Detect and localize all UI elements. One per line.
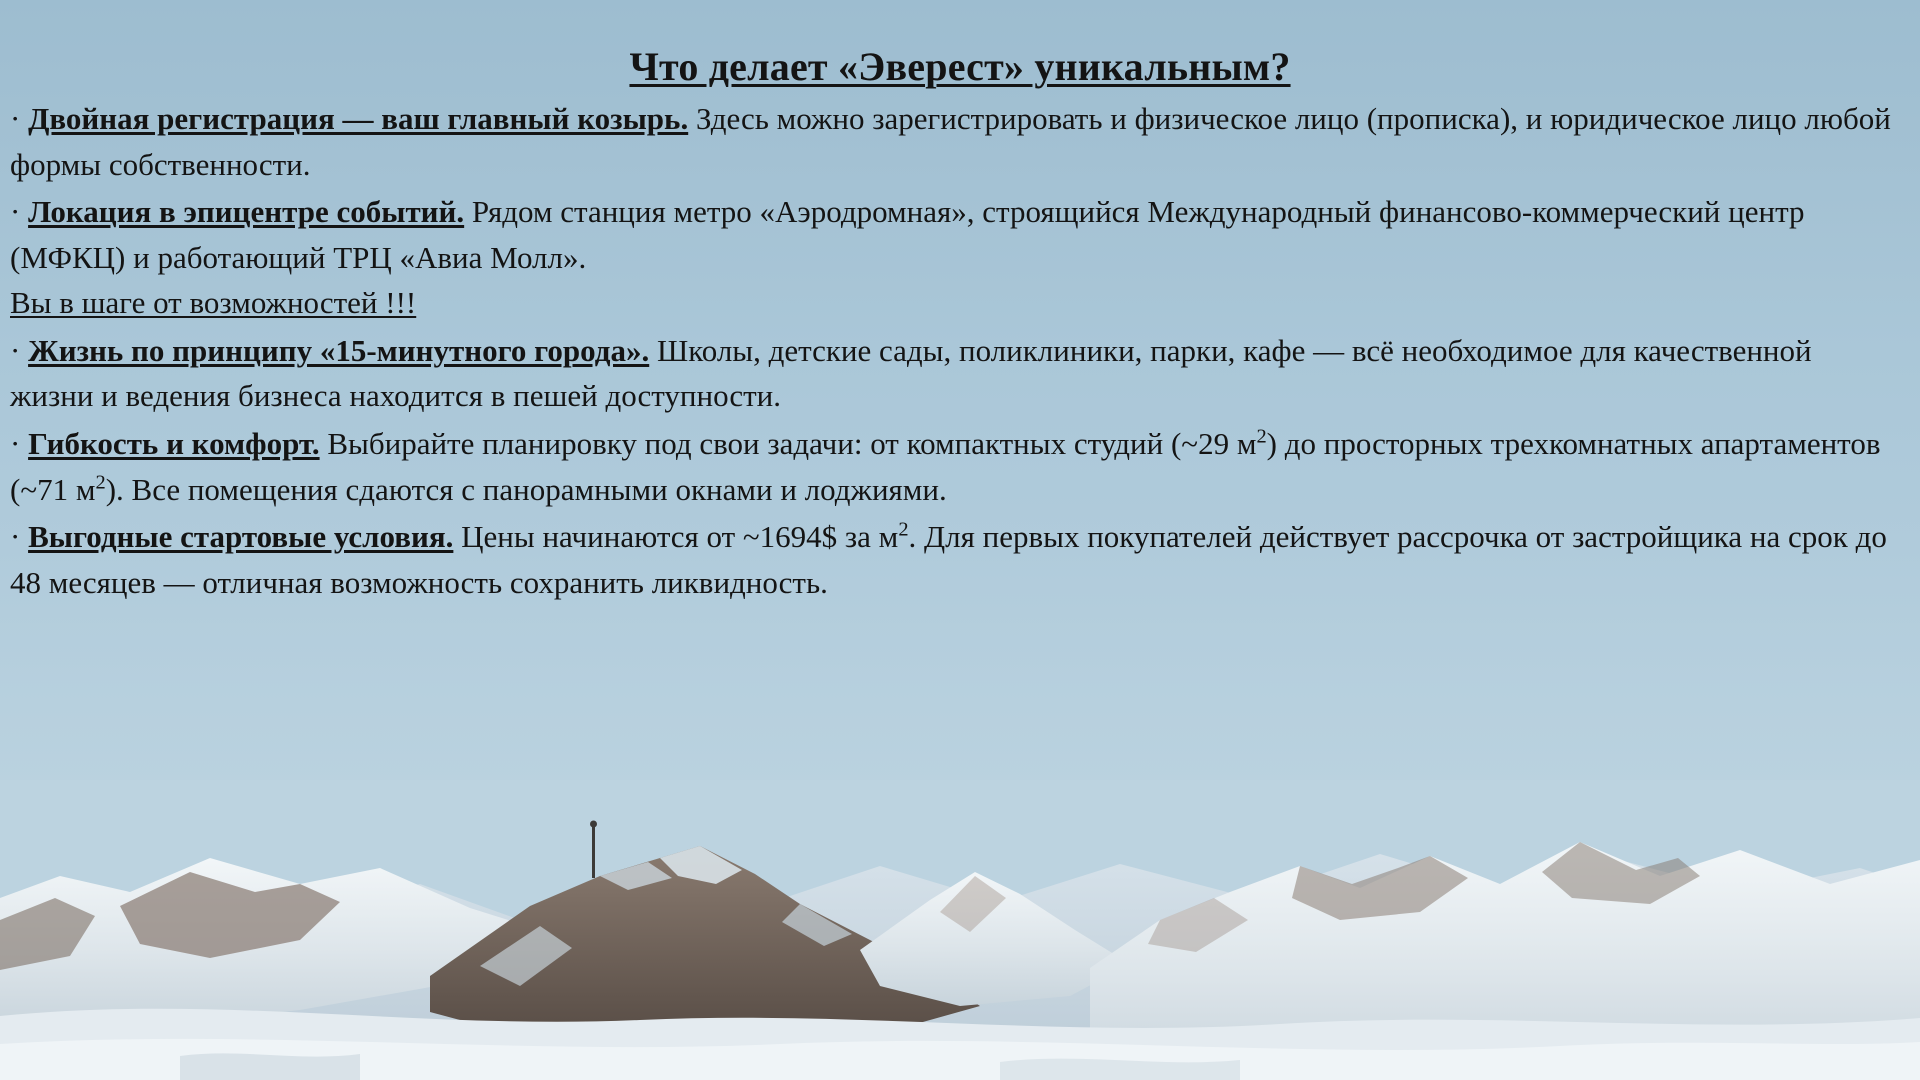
presentation-slide: Что делает «Эверест» уникальным? · Двойн… (0, 0, 1920, 1080)
bullet-location-lead: Локация в эпицентре событий. (28, 194, 464, 229)
bullet-marker: · (10, 426, 20, 461)
area-unit-superscript-studio: 2 (1256, 426, 1266, 448)
bullet-fifteen-minute-city-lead: Жизнь по принципу «15-минутного города». (28, 333, 649, 368)
bullet-starting-conditions: · Выгодные стартовые условия. Цены начин… (0, 514, 1920, 605)
area-unit-superscript-three-room: 2 (95, 471, 105, 493)
bullet-fifteen-minute-city: · Жизнь по принципу «15-минутного города… (0, 328, 1920, 419)
bullet-dual-registration-lead: Двойная регистрация — ваш главный козырь… (28, 101, 688, 136)
bullet-flexibility-comfort: · Гибкость и комфорт. Выбирайте планиров… (0, 421, 1920, 512)
bullet-flexibility-comfort-lead: Гибкость и комфорт. (28, 426, 320, 461)
bullet-marker: · (10, 519, 20, 554)
bullet-dual-registration: · Двойная регистрация — ваш главный козы… (0, 96, 1920, 187)
area-unit-superscript-price: 2 (898, 519, 908, 541)
page-title-text: Что делает «Эверест» уникальным? (629, 44, 1290, 89)
bullet-location: · Локация в эпицентре событий. Рядом ста… (0, 189, 1920, 326)
bullet-starting-conditions-body-1: Цены начинаются от ~1694$ за м (453, 519, 898, 554)
snowy-mountain-panorama-image (0, 780, 1920, 1080)
slide-text-content: Что делает «Эверест» уникальным? · Двойн… (0, 0, 1920, 605)
bullet-flexibility-comfort-body-1: Выбирайте планировку под свои задачи: от… (320, 426, 1257, 461)
bullet-flexibility-comfort-body-3: ). Все помещения сдаются с панорамными о… (106, 472, 947, 507)
bullet-starting-conditions-lead: Выгодные стартовые условия. (28, 519, 453, 554)
page-title: Что делает «Эверест» уникальным? (0, 0, 1920, 96)
bullet-marker: · (10, 194, 20, 229)
bullet-marker: · (10, 333, 20, 368)
bullet-location-highlight: Вы в шаге от возможностей !!! (10, 285, 416, 320)
bullet-marker: · (10, 101, 20, 136)
